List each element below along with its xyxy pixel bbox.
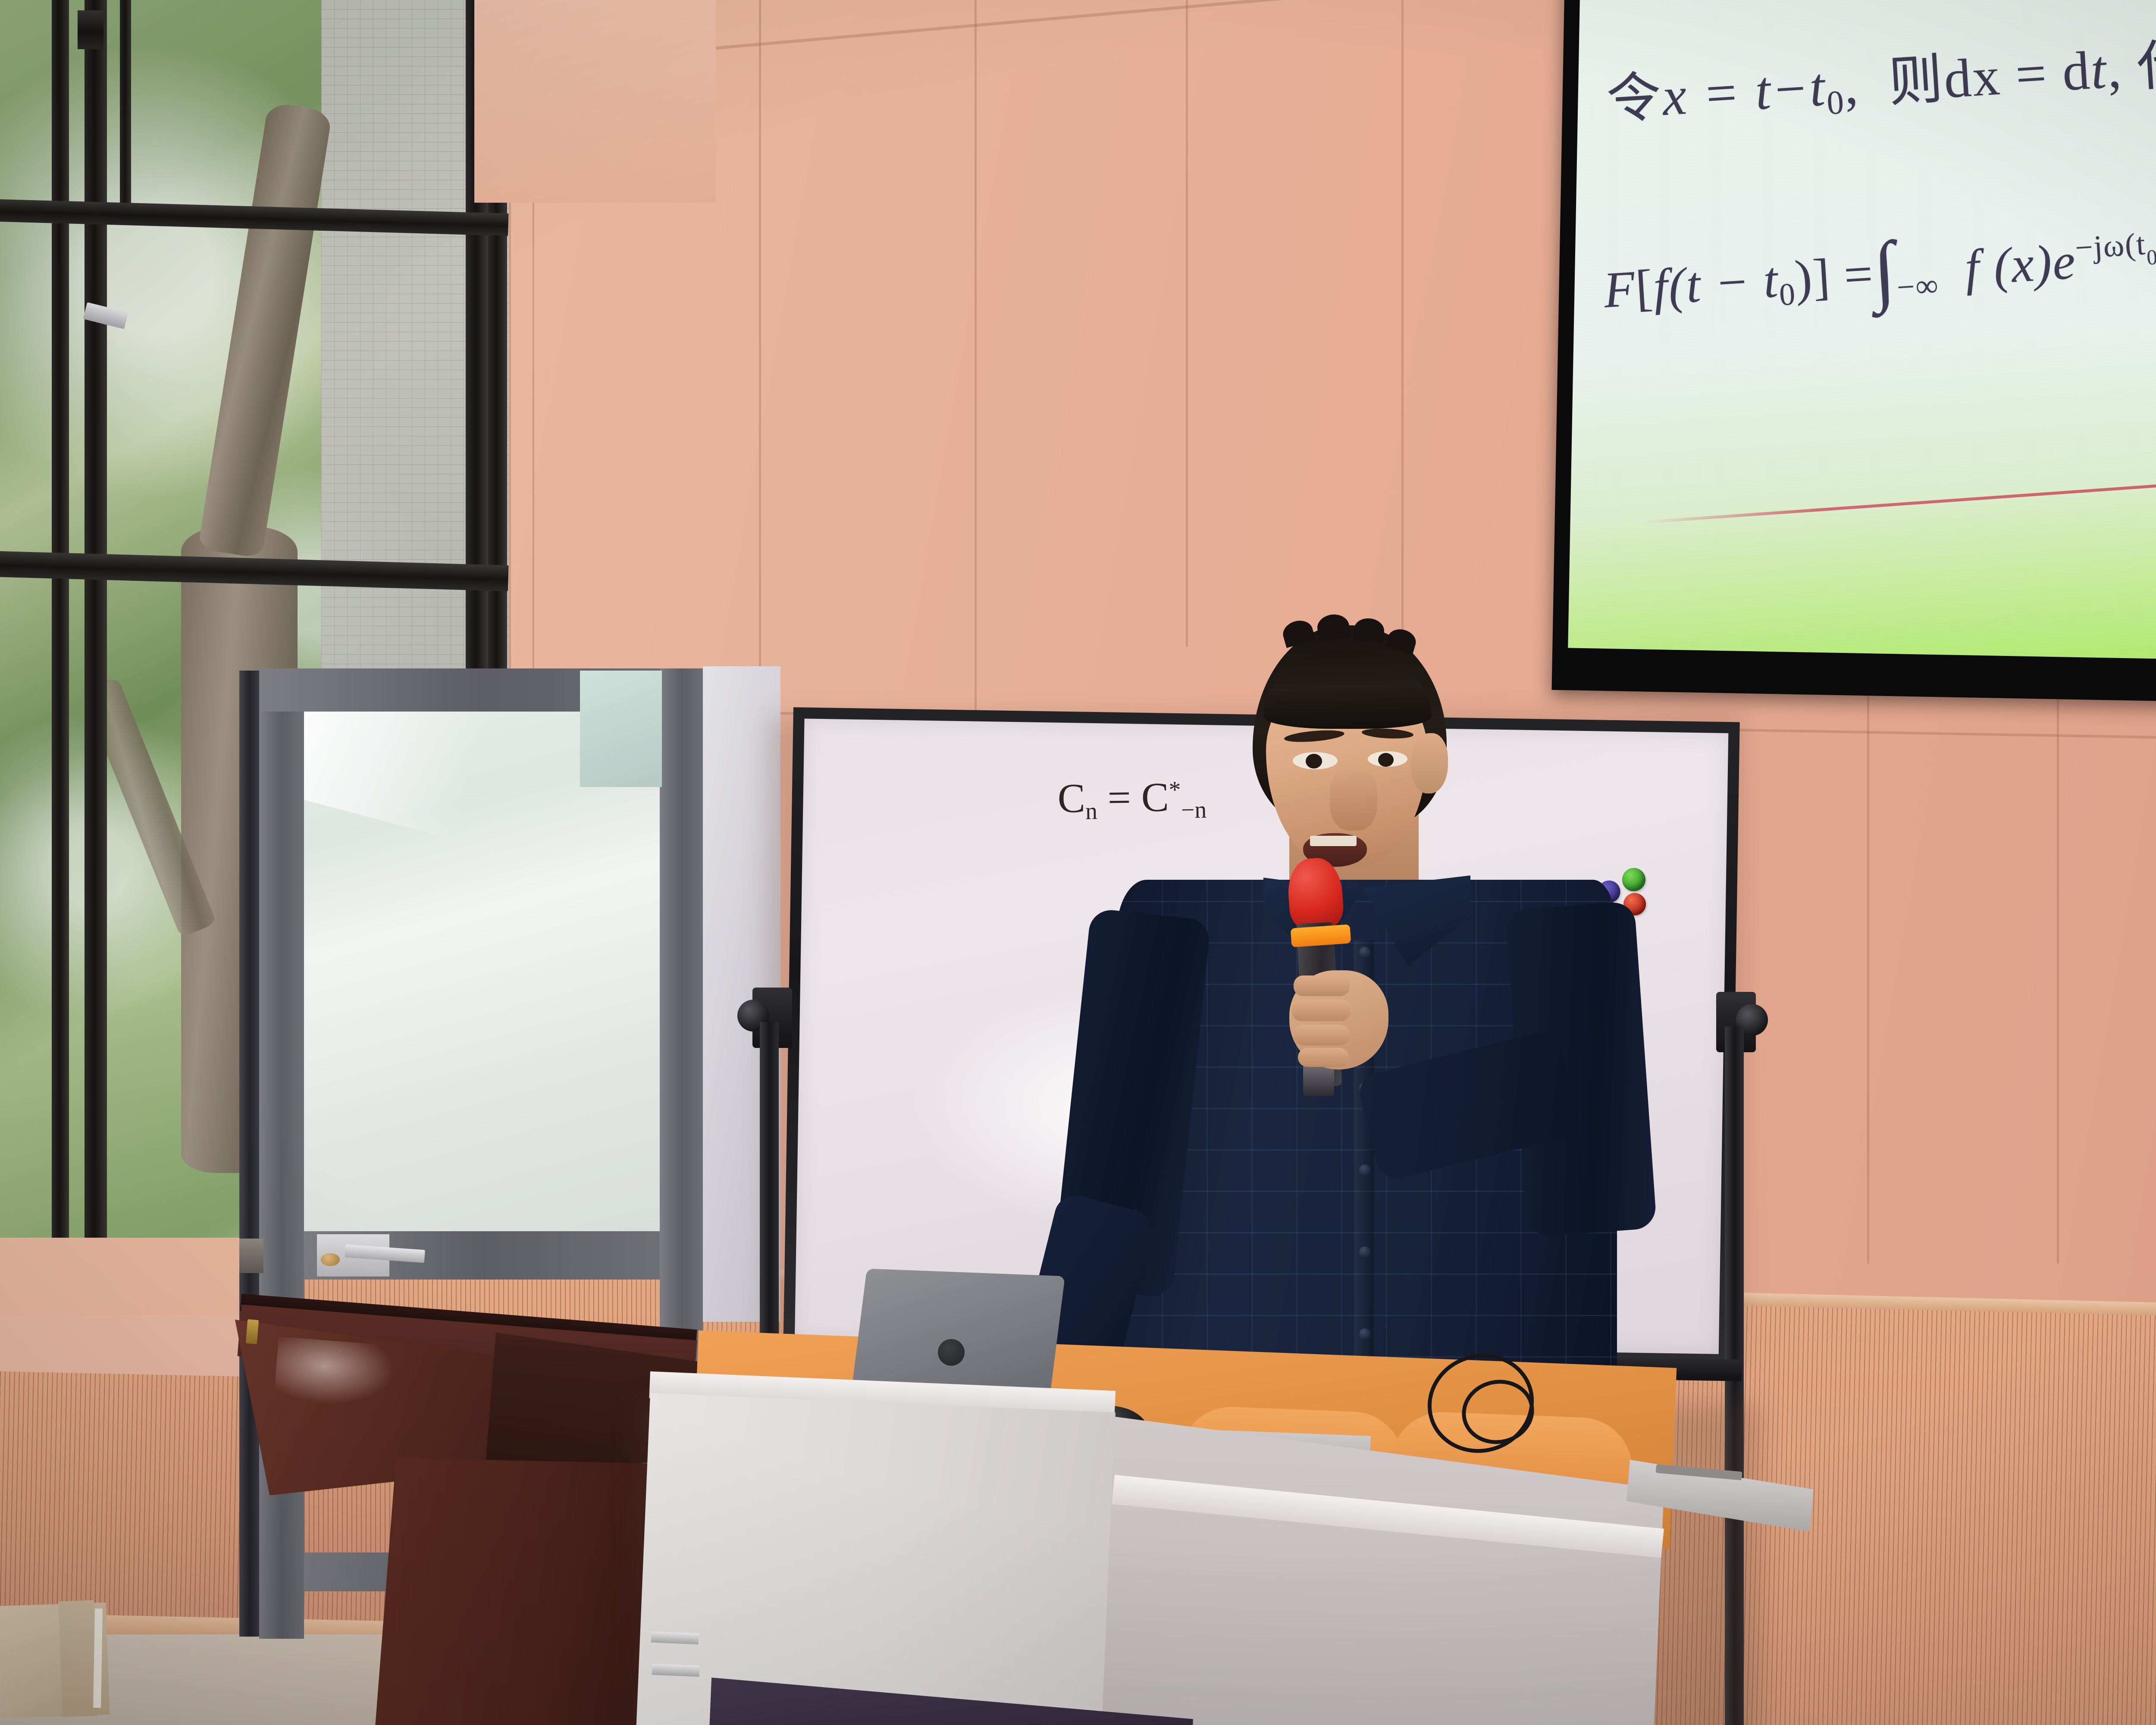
shirt-button [1359,1328,1370,1339]
lectern-chrome-strip [651,1631,699,1645]
presenter-teeth [1310,836,1357,846]
hp-logo [938,1339,965,1366]
cardboard-box-flap [58,1600,97,1717]
wooden-podium-stem [373,1458,655,1725]
lectern-chrome-strip [652,1664,700,1677]
shirt-button [1359,947,1370,958]
presenter-finger [1294,975,1350,996]
lecture-hall-photo: 令x = t−t0, 则dx = dt, 代入上 F[f(t − t0)] =∫… [0,0,2156,1725]
presenter-hair-spike [1316,613,1351,641]
presenter-pupil-right [1378,753,1394,767]
shirt-button [1359,1164,1370,1176]
presenter-hair-spike [1353,617,1385,643]
presenter-finger [1292,1000,1351,1021]
wooden-podium-scuff [274,1336,399,1411]
presenter-pupil-left [1306,754,1322,768]
presenter-ear [1411,733,1448,793]
microphone-base [1303,1065,1334,1096]
wooden-podium-latch [246,1319,259,1344]
presenter-nose [1330,767,1377,831]
shirt-button [1359,1246,1370,1258]
presenter-finger [1298,1048,1349,1067]
presenter-finger [1294,1025,1350,1045]
lectern-front-panel [636,1393,1116,1725]
